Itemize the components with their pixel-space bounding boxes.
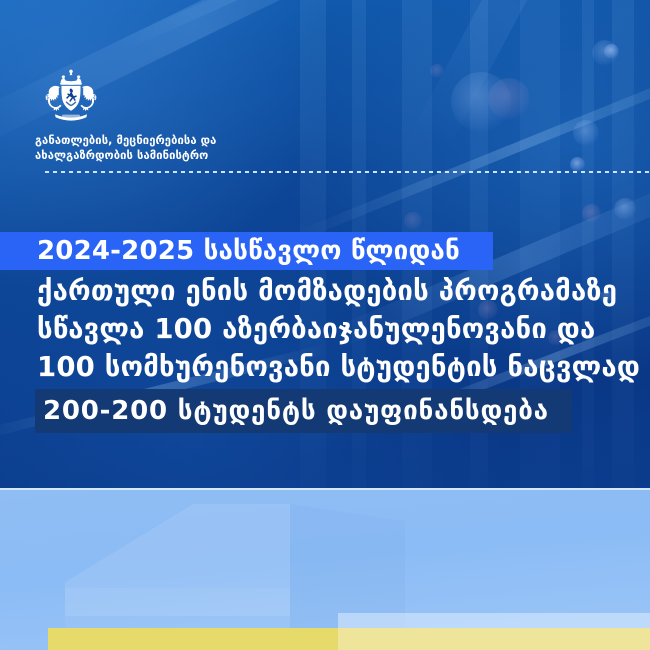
background-bokeh [404,212,422,230]
background-bokeh [570,157,585,172]
background-bokeh [614,198,636,220]
panel-top-edge [0,488,650,490]
ministry-branding: განათლების, მეცნიერებისა და ახალგაზრდობი… [35,68,335,163]
headline-line: ქართული ენის მომზადების პროგრამაზე [0,272,650,310]
headline-line-text: 200-200 სტუდენტს დაუფინანსდება [35,389,572,433]
top-banner-panel: განათლების, მეცნიერებისა და ახალგაზრდობი… [0,0,650,488]
georgia-coat-of-arms-icon [35,68,107,126]
background-bokeh [430,64,444,78]
headline-block: 2024-2025 სასწავლო წლიდან ქართული ენის მ… [0,232,650,433]
headline-line-text: სწავლა 100 აზერბაიჯანულენოვანი და [0,310,650,348]
background-bokeh [592,40,618,66]
accent-bar-segment-left [48,628,338,650]
accent-bar [48,628,650,650]
headline-line-highlighted-primary: 2024-2025 სასწავლო წლიდან [0,232,493,270]
headline-line: 100 სომხურენოვანი სტუდენტის ნაცვლად [0,348,650,386]
headline-line-highlighted-emphasis: 200-200 სტუდენტს დაუფინანსდება [35,389,572,433]
background-bokeh [488,78,530,120]
background-bokeh [582,204,601,223]
accent-bar-segment-right [338,628,650,650]
headline-line-text: ქართული ენის მომზადების პროგრამაზე [0,272,650,310]
background-bokeh [573,120,599,146]
dashed-divider [45,171,650,173]
headline-line-text: 100 სომხურენოვანი სტუდენტის ნაცვლად [0,348,650,386]
ministry-name-label: განათლების, მეცნიერებისა და ახალგაზრდობი… [35,133,335,163]
bottom-decorative-panel [0,488,650,650]
announcement-poster: განათლების, მეცნიერებისა და ახალგაზრდობი… [0,0,650,650]
headline-line: სწავლა 100 აზერბაიჯანულენოვანი და [0,310,650,348]
headline-line-text: 2024-2025 სასწავლო წლიდან [0,232,493,270]
